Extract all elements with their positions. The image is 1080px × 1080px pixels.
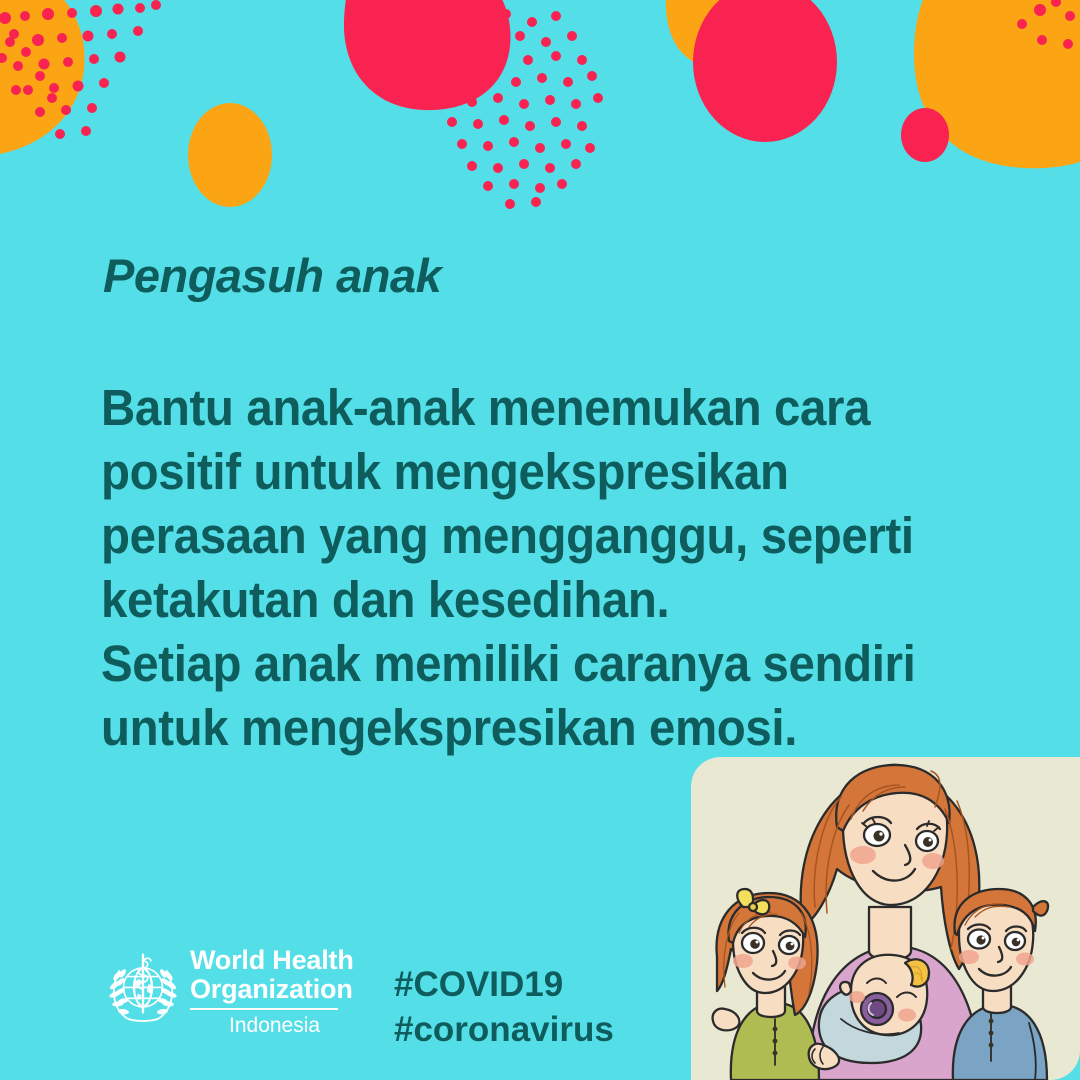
baby-pacifier xyxy=(861,993,893,1025)
who-wordmark: World Health Organization xyxy=(190,946,354,1004)
crimson-circle-right xyxy=(901,108,949,162)
body-line: perasaan yang mengganggu, seperti xyxy=(101,504,938,568)
who-country-label: Indonesia xyxy=(229,1014,320,1038)
crimson-blob-top-center xyxy=(344,0,511,110)
family-illustration xyxy=(691,757,1080,1080)
decorative-shapes xyxy=(0,0,1080,230)
hashtag-block: #COVID19 #coronavirus xyxy=(394,962,614,1052)
who-wordmark-line1: World Health xyxy=(190,946,354,975)
body-line: ketakutan dan kesedihan. xyxy=(101,568,938,632)
crimson-blob-right xyxy=(693,0,837,142)
who-emblem-icon xyxy=(104,950,182,1028)
body-line: Setiap anak memiliki caranya sendiri xyxy=(101,632,938,696)
hashtag-covid19: #COVID19 xyxy=(394,962,614,1007)
body-copy: Bantu anak-anak menemukan cara positif u… xyxy=(101,376,1001,760)
who-wordmark-line2: Organization xyxy=(190,975,354,1004)
body-line: positif untuk mengekspresikan xyxy=(101,440,938,504)
body-line: untuk mengekspresikan emosi. xyxy=(101,696,938,760)
dot-cluster-center xyxy=(433,9,603,209)
hashtag-coronavirus: #coronavirus xyxy=(394,1007,614,1052)
body-line: Bantu anak-anak menemukan cara xyxy=(101,376,938,440)
who-logo: World Health Organization Indonesia xyxy=(104,944,354,1048)
page-title: Pengasuh anak xyxy=(103,248,441,303)
who-divider xyxy=(190,1008,338,1010)
who-covid-poster: Pengasuh anak Bantu anak-anak menemukan … xyxy=(0,0,1080,1080)
orange-oval-left xyxy=(188,103,272,207)
